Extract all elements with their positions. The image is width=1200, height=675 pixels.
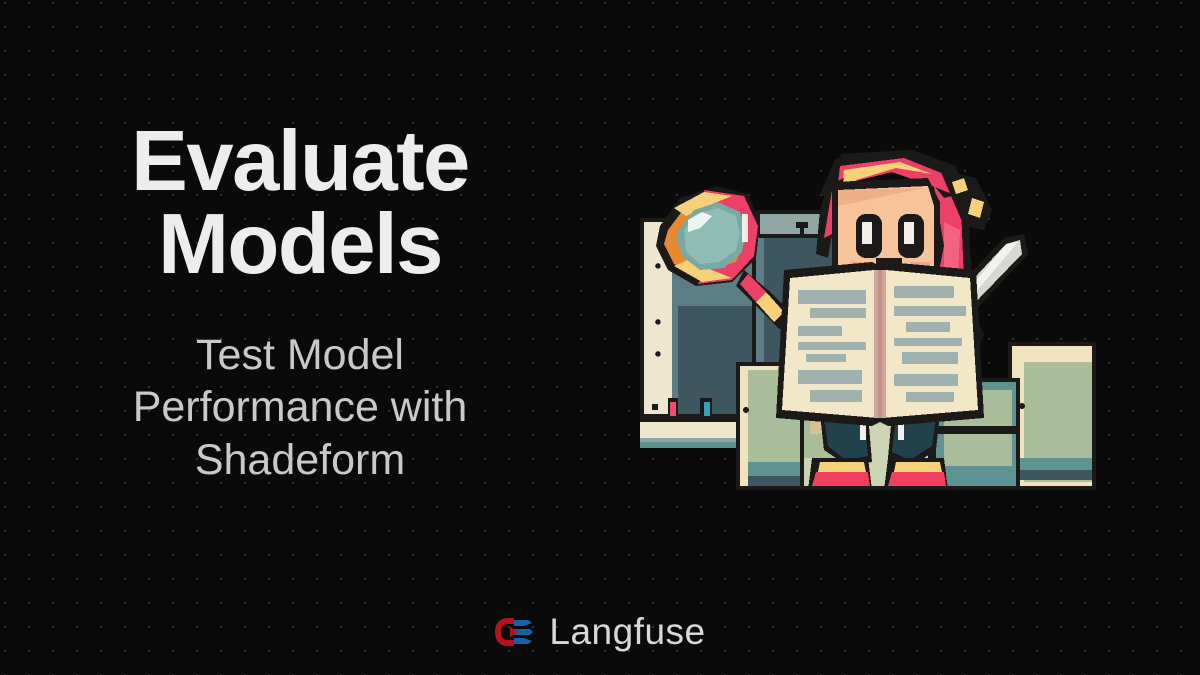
pixel-art-character-reading-book-icon (612, 142, 1112, 494)
hero-text-column: Evaluate Models Test Model Performance w… (0, 120, 600, 486)
page-subtitle: Test Model Performance with Shadeform (85, 329, 515, 486)
brand-name: Langfuse (549, 611, 705, 653)
page-title: Evaluate Models (80, 120, 520, 287)
langfuse-logo-icon (494, 615, 534, 649)
open-book (776, 262, 984, 426)
poster-canvas: Evaluate Models Test Model Performance w… (0, 0, 1200, 675)
brand-lockup: Langfuse (0, 611, 1200, 653)
